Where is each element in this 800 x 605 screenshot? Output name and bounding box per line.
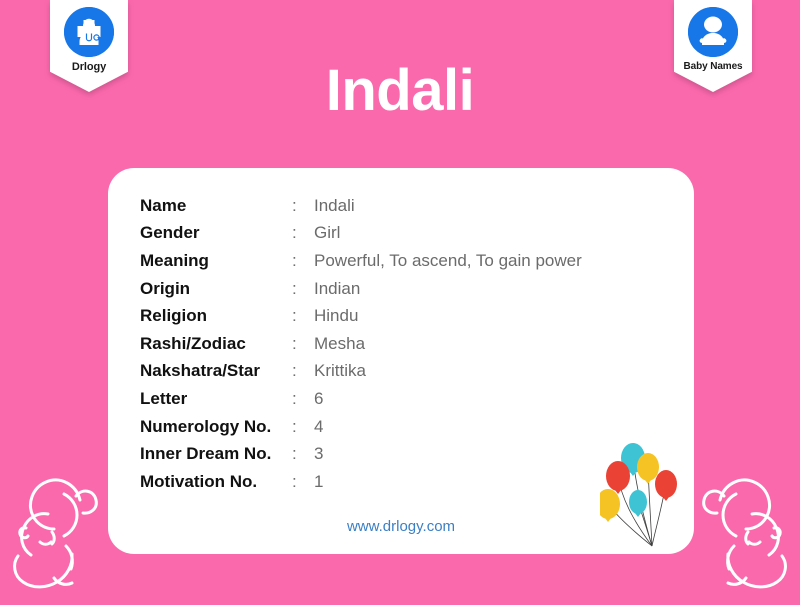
balloons-illustration: [600, 442, 686, 554]
row-value: Indian: [314, 275, 582, 303]
drlogy-doctor-logo-icon: [64, 7, 114, 57]
table-row: Nakshatra/Star : Krittika: [140, 358, 582, 386]
row-value: 4: [314, 413, 582, 441]
table-row: Gender : Girl: [140, 220, 582, 248]
table-row: Religion : Hindu: [140, 302, 582, 330]
row-label: Name: [140, 192, 292, 220]
baby-names-logo-icon: [688, 7, 738, 57]
row-separator: :: [292, 358, 314, 386]
row-separator: :: [292, 468, 314, 496]
row-label: Religion: [140, 302, 292, 330]
row-separator: :: [292, 413, 314, 441]
row-value: 6: [314, 385, 582, 413]
row-separator: :: [292, 247, 314, 275]
table-row: Rashi/Zodiac : Mesha: [140, 330, 582, 358]
name-details-table: Name : Indali Gender : Girl Meaning : Po…: [140, 192, 582, 496]
table-row: Inner Dream No. : 3: [140, 440, 582, 468]
row-value: 3: [314, 440, 582, 468]
row-label: Letter: [140, 385, 292, 413]
table-row: Motivation No. : 1: [140, 468, 582, 496]
row-label: Motivation No.: [140, 468, 292, 496]
row-label: Numerology No.: [140, 413, 292, 441]
row-label: Nakshatra/Star: [140, 358, 292, 386]
table-row: Name : Indali: [140, 192, 582, 220]
row-separator: :: [292, 275, 314, 303]
table-row: Numerology No. : 4: [140, 413, 582, 441]
row-value: 1: [314, 468, 582, 496]
row-label: Gender: [140, 220, 292, 248]
table-row: Meaning : Powerful, To ascend, To gain p…: [140, 247, 582, 275]
row-value: Krittika: [314, 358, 582, 386]
name-details-card: Name : Indali Gender : Girl Meaning : Po…: [108, 168, 694, 554]
row-separator: :: [292, 330, 314, 358]
row-separator: :: [292, 192, 314, 220]
page-title: Indali: [0, 62, 800, 120]
row-separator: :: [292, 440, 314, 468]
row-value: Powerful, To ascend, To gain power: [314, 247, 582, 275]
row-separator: :: [292, 385, 314, 413]
row-separator: :: [292, 302, 314, 330]
mother-and-baby-icon: [694, 470, 798, 600]
row-value: Mesha: [314, 330, 582, 358]
row-value: Hindu: [314, 302, 582, 330]
row-value: Indali: [314, 192, 582, 220]
row-label: Inner Dream No.: [140, 440, 292, 468]
row-separator: :: [292, 220, 314, 248]
table-row: Letter : 6: [140, 385, 582, 413]
row-label: Meaning: [140, 247, 292, 275]
table-row: Origin : Indian: [140, 275, 582, 303]
row-value: Girl: [314, 220, 582, 248]
mother-and-baby-icon: [2, 470, 106, 600]
row-label: Rashi/Zodiac: [140, 330, 292, 358]
row-label: Origin: [140, 275, 292, 303]
